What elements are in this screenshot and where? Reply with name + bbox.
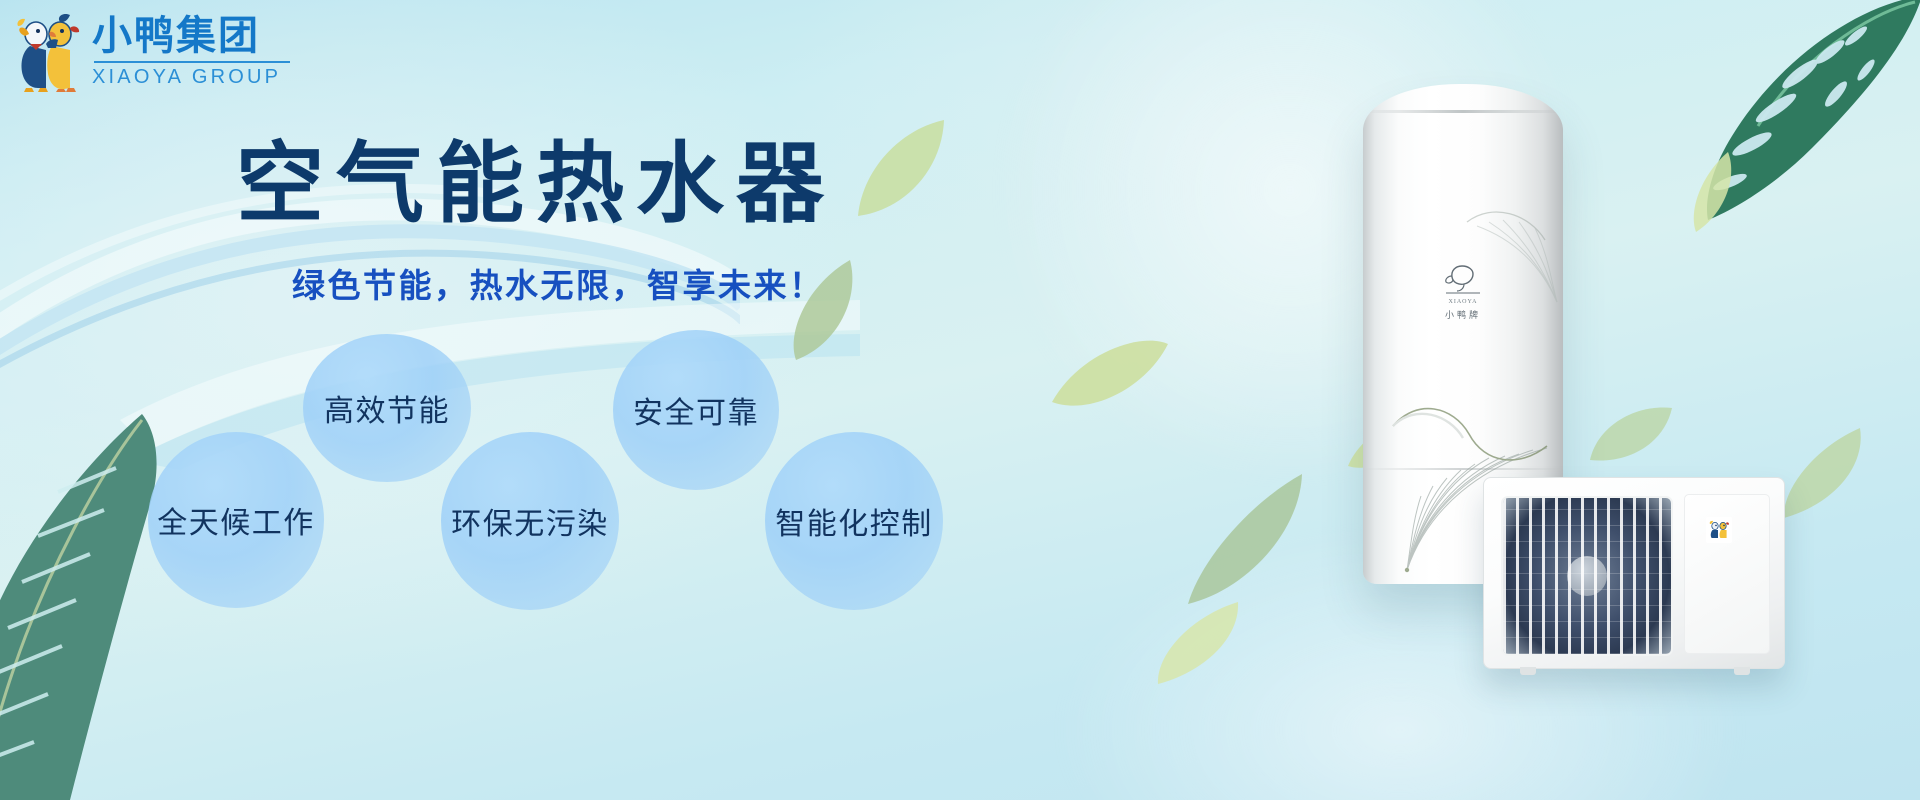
grille-vertical-bars bbox=[1503, 498, 1671, 654]
bubble-safe-reliable[interactable]: 安全可靠 bbox=[613, 330, 779, 490]
small-leaf-icon-9 bbox=[1684, 150, 1744, 236]
duck-mascots-icon bbox=[16, 10, 82, 92]
promo-banner: 小鸭集团 XIAOYA GROUP 空气能热水器 绿色节能，热水无限，智享未来！… bbox=[0, 0, 1920, 800]
tank-cap-seam bbox=[1363, 110, 1563, 113]
unit-foot-right bbox=[1734, 667, 1750, 675]
bubble-label: 智能化控制 bbox=[775, 499, 933, 543]
small-leaf-icon-3 bbox=[1050, 330, 1170, 416]
bubble-high-efficiency[interactable]: 高效节能 bbox=[303, 334, 471, 482]
bubble-smart-control[interactable]: 智能化控制 bbox=[765, 432, 943, 610]
unit-foot-left bbox=[1520, 667, 1536, 675]
logo-chinese-text: 小鸭集团 bbox=[92, 16, 290, 56]
bubble-label: 环保无污染 bbox=[451, 499, 609, 543]
logo-english-text: XIAOYA GROUP bbox=[92, 67, 290, 87]
bubble-all-weather[interactable]: 全天候工作 bbox=[148, 432, 324, 608]
small-leaf-icon-7 bbox=[1588, 404, 1674, 468]
small-leaf-icon-4 bbox=[1182, 470, 1312, 610]
bubble-label: 全天候工作 bbox=[157, 498, 315, 542]
bubble-label: 高效节能 bbox=[324, 386, 450, 430]
fan-grille bbox=[1501, 496, 1673, 656]
page-subtitle: 绿色节能，热水无限，智享未来！ bbox=[292, 259, 916, 307]
page-title: 空气能热水器 bbox=[236, 136, 916, 231]
bubble-eco-friendly[interactable]: 环保无污染 bbox=[441, 432, 619, 610]
tank-floral-pattern-upper bbox=[1449, 192, 1563, 312]
small-leaf-icon-5 bbox=[1152, 600, 1244, 686]
small-leaf-icon-8 bbox=[1778, 424, 1868, 520]
headline-block: 空气能热水器 绿色节能，热水无限，智享未来！ bbox=[236, 136, 916, 307]
monstera-leaf-icon bbox=[1650, 0, 1920, 226]
bubble-label: 安全可靠 bbox=[633, 388, 759, 432]
logo-divider bbox=[94, 61, 290, 63]
brand-logo[interactable]: 小鸭集团 XIAOYA GROUP bbox=[16, 10, 290, 92]
duck-mascots-badge-icon bbox=[1706, 517, 1732, 543]
heat-pump-outdoor-unit bbox=[1483, 477, 1785, 669]
